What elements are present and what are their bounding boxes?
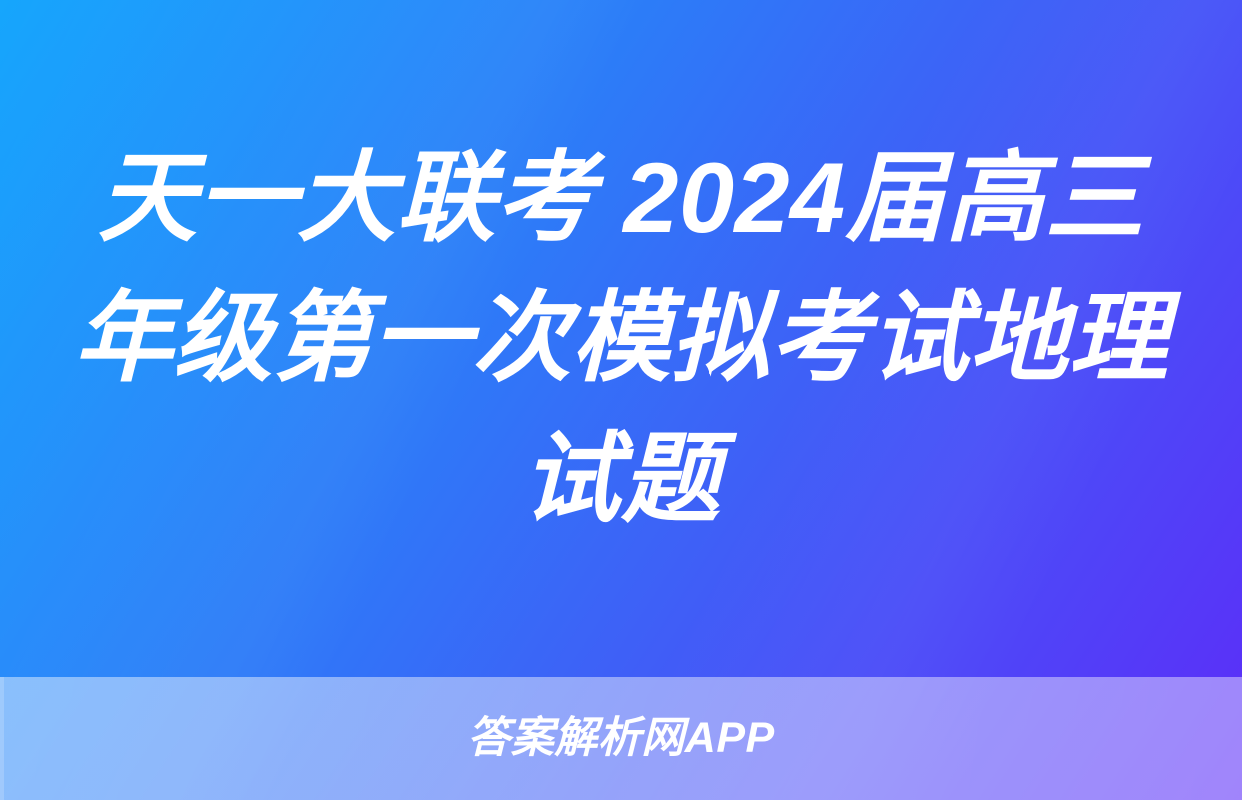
watermark-band-left-edge xyxy=(0,677,4,800)
exam-title-block: 天一大联考 2024届高三 年级第一次模拟考试地理 试题 xyxy=(0,0,1242,677)
exam-title-line-2: 年级第一次模拟考试地理 xyxy=(70,268,1172,409)
watermark-app-label: 答案解析网APP xyxy=(467,717,774,760)
watermark-band: 答案解析网APP xyxy=(0,677,1242,800)
exam-title-line-1: 天一大联考 2024届高三 xyxy=(70,128,1172,269)
exam-title-line-3: 试题 xyxy=(70,409,1172,550)
exam-cover-card: 天一大联考 2024届高三 年级第一次模拟考试地理 试题 答案解析网APP xyxy=(0,0,1242,800)
